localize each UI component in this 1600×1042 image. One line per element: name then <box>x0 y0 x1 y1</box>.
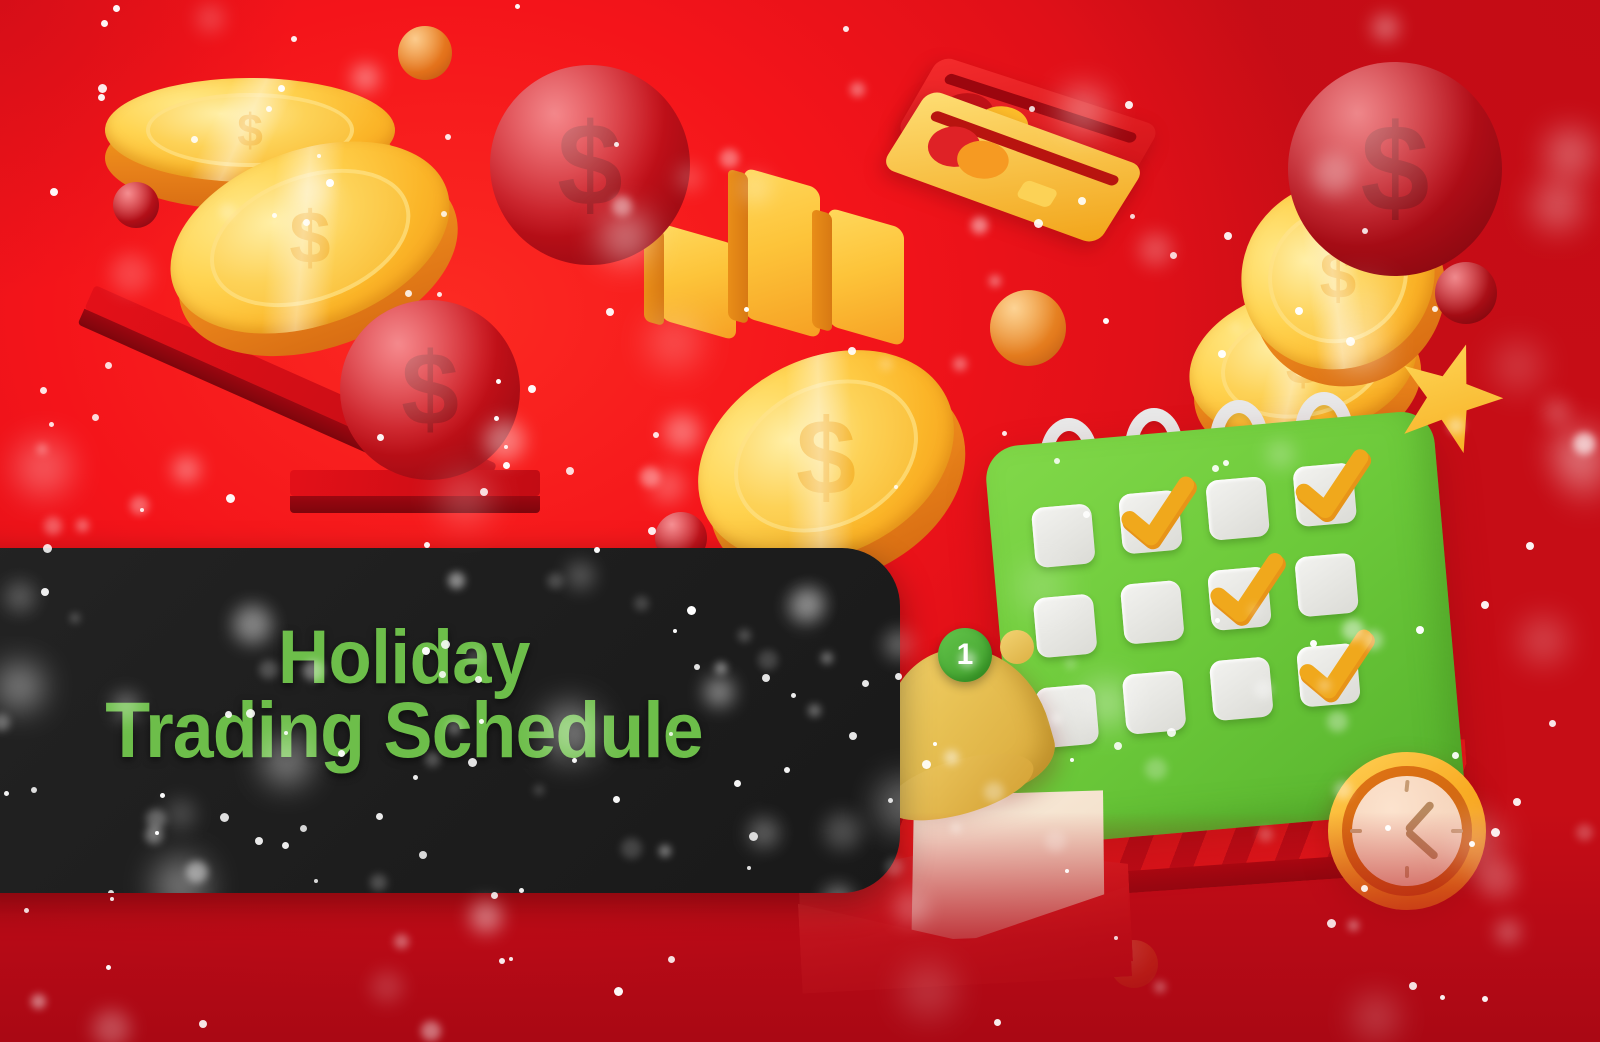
page-title: Holiday Trading Schedule <box>0 622 867 768</box>
sphere-decor <box>990 290 1066 366</box>
sphere-decor <box>398 26 452 80</box>
check-icon <box>1293 627 1382 716</box>
headline-panel: Holiday Trading Schedule <box>0 548 900 893</box>
check-icon <box>1289 447 1378 536</box>
notification-badge: 1 <box>938 628 992 682</box>
check-icon <box>1204 550 1293 639</box>
headline-line-2: Trading Schedule <box>0 693 815 767</box>
dollar-sphere-icon: $ <box>340 300 520 480</box>
check-icon <box>1115 474 1204 563</box>
dollar-sphere-icon: $ <box>1288 62 1502 276</box>
holiday-trading-schedule-banner: $ $ $ $ $ <box>0 0 1600 1042</box>
badge-count: 1 <box>957 638 974 672</box>
bar-chart-icon <box>828 207 904 347</box>
bar-chart-icon <box>744 167 820 339</box>
bell-knob <box>1000 630 1034 664</box>
sphere-decor <box>113 182 159 228</box>
sphere-decor <box>1435 262 1497 324</box>
dollar-sphere-icon: $ <box>490 65 690 265</box>
